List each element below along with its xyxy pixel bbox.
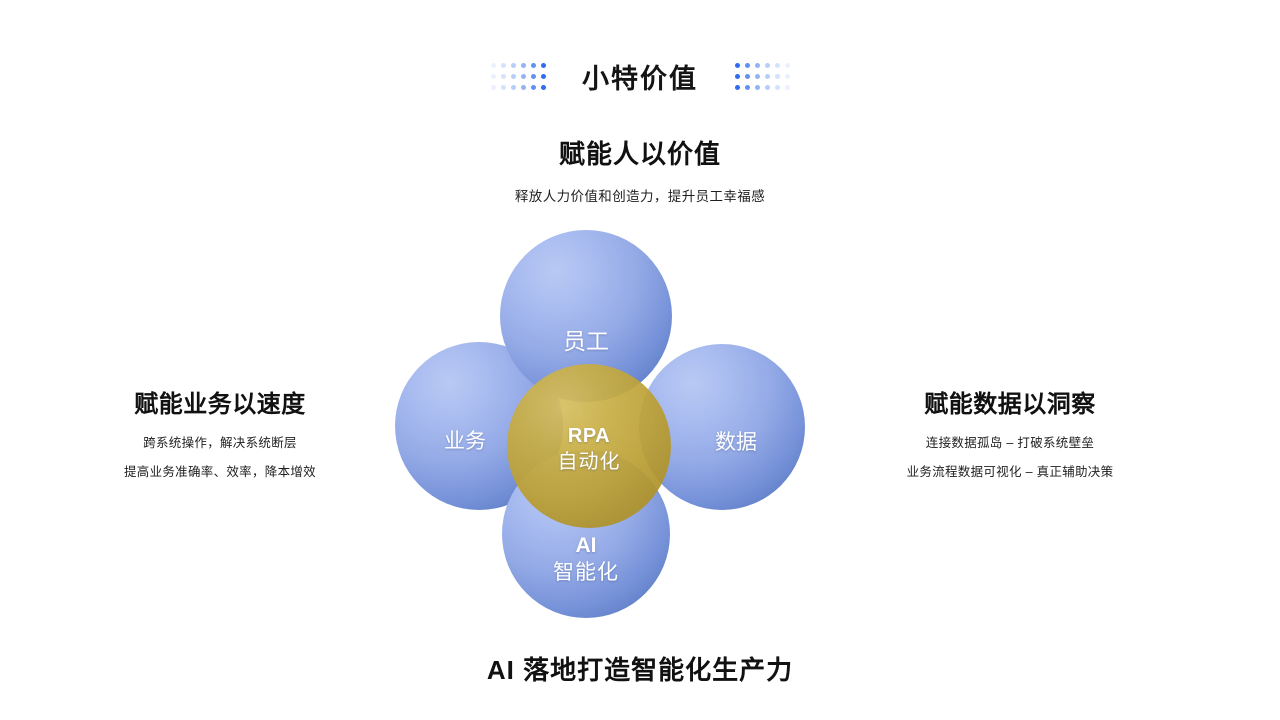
dot (785, 63, 790, 68)
section-top-title: 赋能人以价值 (0, 134, 1280, 171)
circle-rpa-line-2: 自动化 (558, 451, 621, 473)
dot (491, 85, 496, 90)
dot (745, 85, 750, 90)
dot (745, 63, 750, 68)
dot (541, 74, 546, 79)
circle-data-label: 数据 (715, 430, 757, 457)
dot (531, 74, 536, 79)
page-header: 小特价值 (0, 48, 1280, 104)
dot (491, 63, 496, 68)
dot (501, 74, 506, 79)
circle-rpa-label: RPA 自动化 (558, 424, 621, 475)
dot (521, 74, 526, 79)
dot (765, 63, 770, 68)
dot (775, 74, 780, 79)
circle-ai-line-2: 智能化 (553, 561, 619, 584)
dot (501, 85, 506, 90)
dot (511, 63, 516, 68)
circle-rpa-line-1: RPA (568, 425, 610, 447)
section-left-subtitle-2: 提高业务准确率、效率，降本增效 (60, 461, 380, 480)
dot (735, 63, 740, 68)
dot (745, 74, 750, 79)
dot (765, 85, 770, 90)
section-right-subtitle-2: 业务流程数据可视化 – 真正辅助决策 (800, 461, 1220, 480)
dot (521, 85, 526, 90)
dot (531, 85, 536, 90)
dot (735, 74, 740, 79)
dot (775, 85, 780, 90)
section-right-title: 赋能数据以洞察 (800, 384, 1220, 419)
dot (511, 74, 516, 79)
section-left: 赋能业务以速度 跨系统操作，解决系统断层 提高业务准确率、效率，降本增效 (60, 384, 380, 480)
section-bottom: AI 落地打造智能化生产力 (0, 650, 1280, 687)
dot (755, 63, 760, 68)
circle-ai-line-1: AI (576, 534, 597, 557)
venn-diagram: 业务 数据 员工 AI 智能化 RPA 自动化 (390, 222, 800, 622)
dot (541, 85, 546, 90)
section-right: 赋能数据以洞察 连接数据孤岛 – 打破系统壁垒 业务流程数据可视化 – 真正辅助… (800, 384, 1220, 480)
circle-employee-label: 员工 (563, 327, 609, 356)
dot (511, 85, 516, 90)
dot (541, 63, 546, 68)
circle-business-label: 业务 (444, 429, 486, 456)
page-title: 小特价值 (582, 57, 698, 96)
dot-grid-icon-right (732, 60, 792, 93)
dot (501, 63, 506, 68)
dot-grid-icon-left (488, 60, 548, 93)
dot (755, 74, 760, 79)
dot (775, 63, 780, 68)
section-right-subtitle-1: 连接数据孤岛 – 打破系统壁垒 (800, 432, 1220, 451)
circle-rpa[interactable]: RPA 自动化 (507, 364, 671, 528)
dot (531, 63, 536, 68)
dot (735, 85, 740, 90)
dot (521, 63, 526, 68)
circle-ai-label: AI 智能化 (553, 533, 619, 587)
section-top-subtitle-1: 释放人力价值和创造力，提升员工幸福感 (0, 185, 1280, 205)
section-left-subtitle-1: 跨系统操作，解决系统断层 (60, 432, 380, 451)
dot (785, 85, 790, 90)
section-left-title: 赋能业务以速度 (60, 384, 380, 419)
section-bottom-title: AI 落地打造智能化生产力 (0, 650, 1280, 687)
dot (785, 74, 790, 79)
section-top: 赋能人以价值 释放人力价值和创造力，提升员工幸福感 (0, 134, 1280, 205)
dot (491, 74, 496, 79)
dot (765, 74, 770, 79)
dot (755, 85, 760, 90)
